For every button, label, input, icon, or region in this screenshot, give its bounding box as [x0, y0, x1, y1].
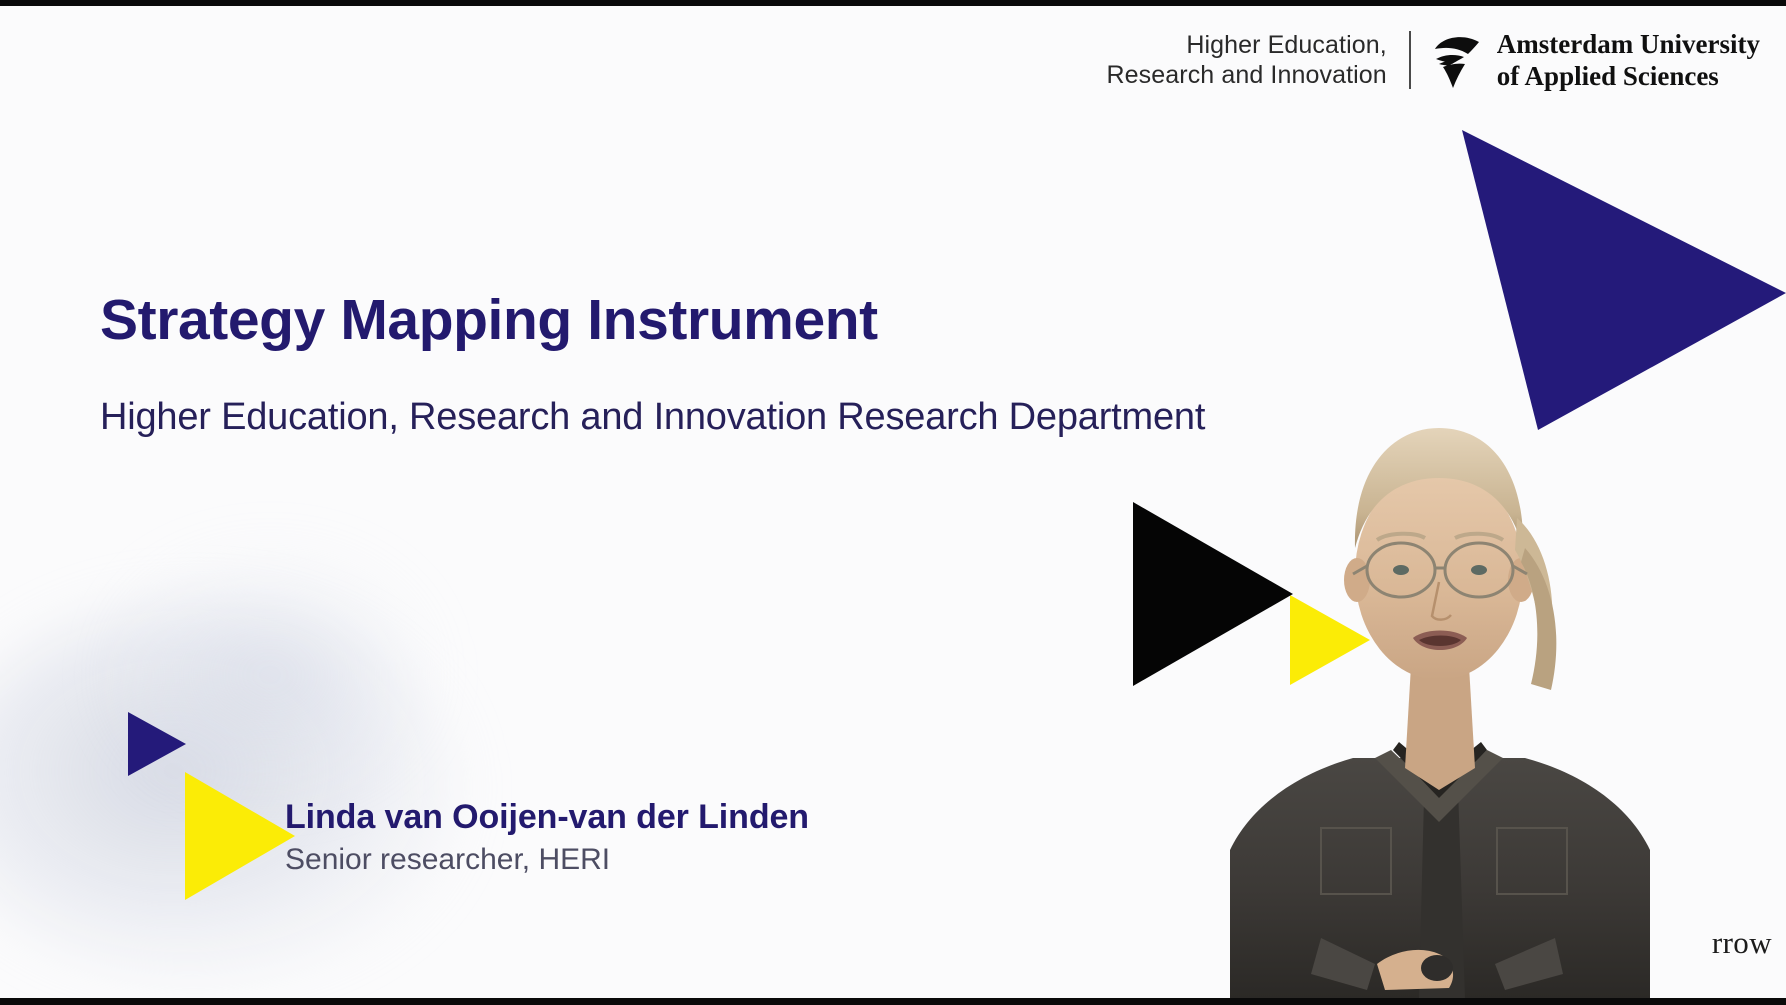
corner-partial-word: rrow: [1712, 925, 1772, 961]
yellow-arrow-left-shape: [185, 772, 295, 900]
university-name-line2: of Applied Sciences: [1497, 61, 1719, 91]
department-name-line2: Research and Innovation: [1107, 60, 1387, 91]
brand-divider: [1409, 31, 1411, 89]
speaker-role: Senior researcher, HERI: [285, 843, 809, 877]
speaker-block: Linda van Ooijen-van der Linden Senior r…: [285, 798, 809, 877]
slide-title: Strategy Mapping Instrument: [100, 287, 878, 353]
brand-lockup: Higher Education, Research and Innovatio…: [1107, 28, 1760, 93]
university-lockup: Amsterdam University of Applied Sciences: [1433, 28, 1760, 93]
navy-arrow-small-shape: [128, 712, 186, 776]
slide-subtitle: Higher Education, Research and Innovatio…: [100, 396, 1205, 439]
presentation-slide: Higher Education, Research and Innovatio…: [0, 0, 1786, 1005]
university-name-line1: Amsterdam University: [1497, 29, 1760, 59]
letterbox-bar-top: [0, 0, 1786, 6]
department-name: Higher Education, Research and Innovatio…: [1107, 30, 1387, 91]
university-name: Amsterdam University of Applied Sciences: [1497, 28, 1760, 93]
speaker-name: Linda van Ooijen-van der Linden: [285, 798, 809, 837]
auas-bird-logo-icon: [1433, 31, 1485, 89]
letterbox-bar-bottom: [0, 998, 1786, 1005]
presenter-video-overlay: [1225, 398, 1655, 998]
department-name-line1: Higher Education,: [1107, 30, 1387, 61]
